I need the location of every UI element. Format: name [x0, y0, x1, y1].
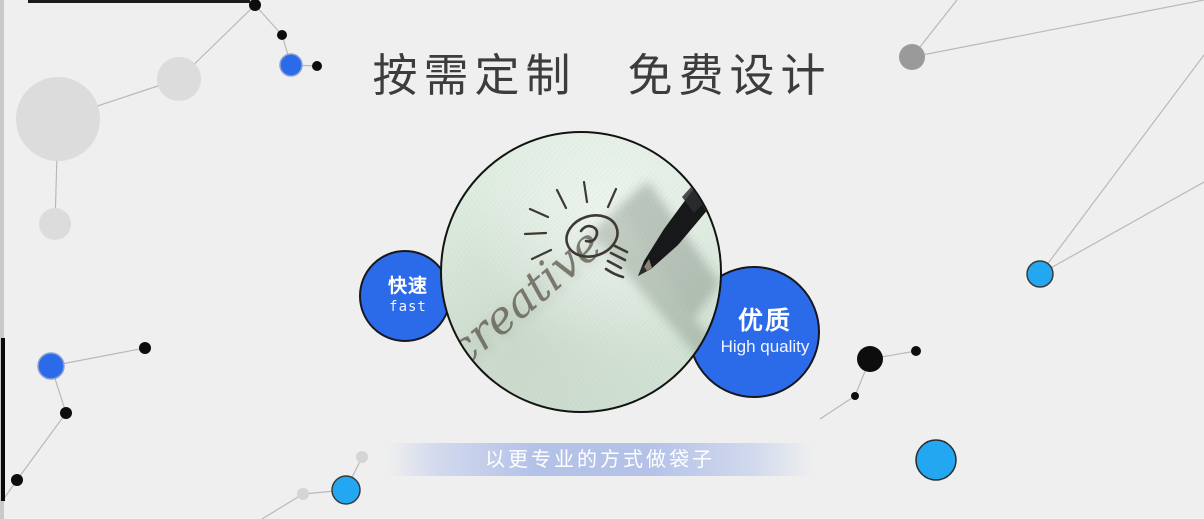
- creative-sketch-artwork: creative creative: [442, 133, 720, 411]
- tagline-text: 以更专业的方式做袋子: [485, 448, 715, 472]
- promo-banner: 按需定制 免费设计 快速 fast 优质 High quality creati…: [0, 0, 1204, 519]
- constellation-node: [60, 407, 72, 419]
- creative-photo-circle: creative creative: [440, 131, 722, 413]
- constellation-node: [139, 342, 151, 354]
- constellation-edge: [17, 413, 66, 480]
- constellation-node: [11, 474, 23, 486]
- constellation-node: [857, 346, 883, 372]
- handwriting-shadow: creative: [442, 219, 616, 378]
- tagline-ribbon: 以更专业的方式做袋子: [388, 443, 812, 476]
- feature-bubble-fast-label-en: fast: [389, 298, 427, 316]
- constellation-node: [332, 476, 360, 504]
- svg-text:creative: creative: [442, 219, 616, 378]
- constellation-node: [911, 346, 921, 356]
- constellation-edge: [262, 494, 303, 519]
- top-edge-black-line: [28, 0, 250, 3]
- constellation-node: [851, 392, 859, 400]
- constellation-edge: [51, 348, 145, 366]
- page-title: 按需定制 免费设计: [0, 46, 1204, 106]
- constellation-node: [356, 451, 368, 463]
- constellation-node: [38, 353, 64, 379]
- constellation-node: [1027, 261, 1053, 287]
- constellation-node: [39, 208, 71, 240]
- constellation-node: [297, 488, 309, 500]
- constellation-edge: [820, 396, 855, 419]
- constellation-node: [277, 30, 287, 40]
- constellation-node: [916, 440, 956, 480]
- feature-bubble-quality-label-en: High quality: [721, 336, 810, 358]
- constellation-edge: [255, 5, 282, 35]
- constellation-edge: [1040, 182, 1204, 274]
- feature-bubble-quality-label-zh: 优质: [738, 306, 792, 336]
- feature-bubble-fast-label-zh: 快速: [388, 276, 428, 298]
- left-edge-black-strip: [1, 338, 5, 501]
- feature-bubble-fast[interactable]: 快速 fast: [359, 250, 451, 342]
